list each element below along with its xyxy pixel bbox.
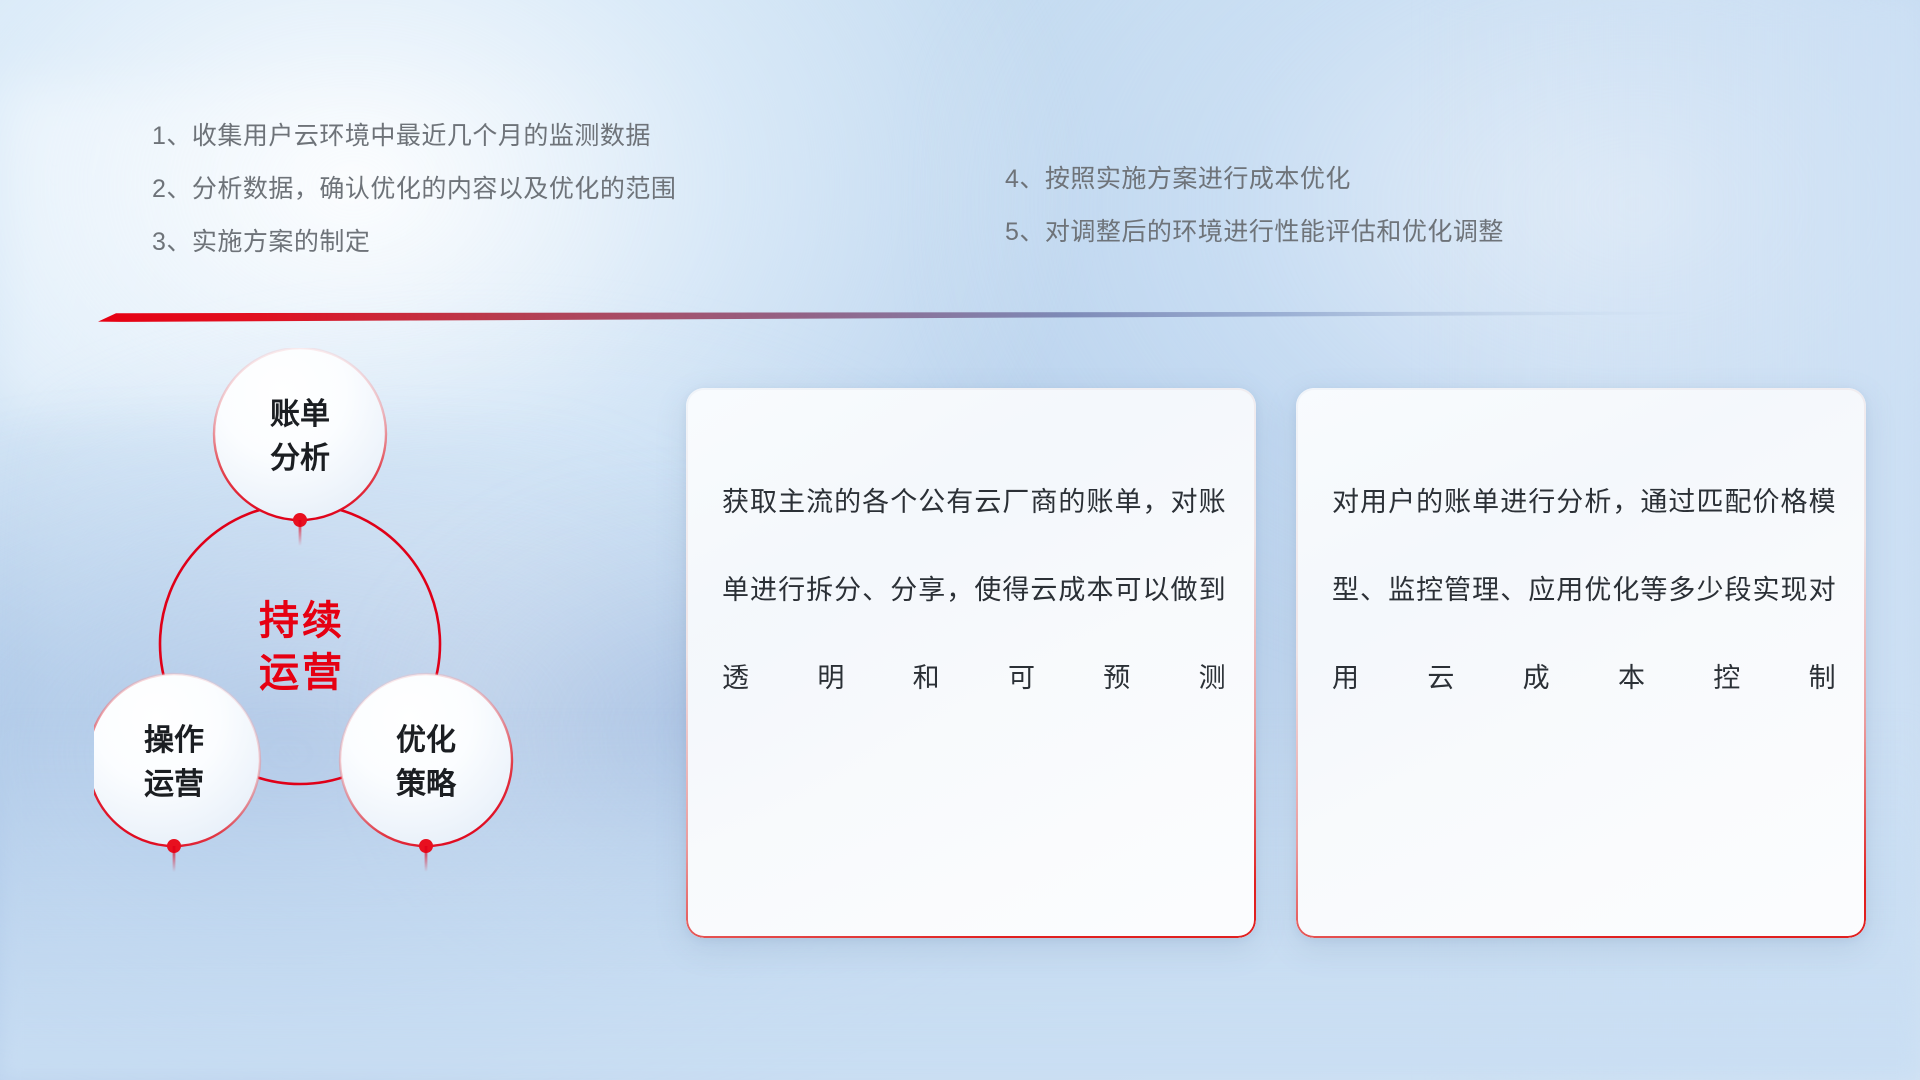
card-cloud-cost-optimization[interactable]: 对用户的账单进行分析，通过匹配价格模型、监控管理、应用优化等多少段实现对用云成本… [1296,388,1866,938]
card-body-2: 对用户的账单进行分析，通过匹配价格模型、监控管理、应用优化等多少段实现对用云成本… [1332,458,1836,722]
bubble-optimization-policy-line2: 策略 [396,767,457,801]
bubble-operation-ops-line1: 操作 [144,724,204,757]
continuous-operations-diagram: 优化 策略 操作 运营 账单 分析 持续 运营 [94,348,654,948]
section-divider [98,311,1708,322]
node-tail-operation-ops [173,846,176,872]
bubble-optimization-policy-line1: 优化 [396,724,456,757]
step-item-5: 5、对调整后的环境进行性能评估和优化调整 [1005,206,1504,259]
steps-right-column: 4、按照实施方案进行成本优化 5、对调整后的环境进行性能评估和优化调整 [1005,153,1504,259]
bubble-optimization-policy: 优化 策略 [340,674,512,872]
steps-left-column: 1、收集用户云环境中最近几个月的监测数据 2、分析数据，确认优化的内容以及优化的… [152,110,676,269]
card-multi-cloud-bill-platform[interactable]: 获取主流的各个公有云厂商的账单，对账单进行拆分、分享，使得云成本可以做到透明和可… [686,388,1256,938]
node-tail-bill-analysis [299,520,302,546]
step-item-4: 4、按照实施方案进行成本优化 [1005,153,1504,206]
step-item-1: 1、收集用户云环境中最近几个月的监测数据 [152,110,676,163]
card-body-1: 获取主流的各个公有云厂商的账单，对账单进行拆分、分享，使得云成本可以做到透明和可… [722,458,1226,722]
diagram-center-label-line1: 持续 [259,599,345,643]
bubble-bill-analysis-line1: 账单 [270,398,330,431]
bubble-operation-ops: 操作 运营 [94,674,260,872]
bubble-bill-analysis-line2: 分析 [270,442,330,475]
step-item-3: 3、实施方案的制定 [152,216,676,269]
step-item-2: 2、分析数据，确认优化的内容以及优化的范围 [152,163,676,216]
node-tail-optimization-policy [425,846,428,872]
bubble-operation-ops-line2: 运营 [144,768,204,801]
diagram-center-label-line2: 运营 [259,651,345,695]
